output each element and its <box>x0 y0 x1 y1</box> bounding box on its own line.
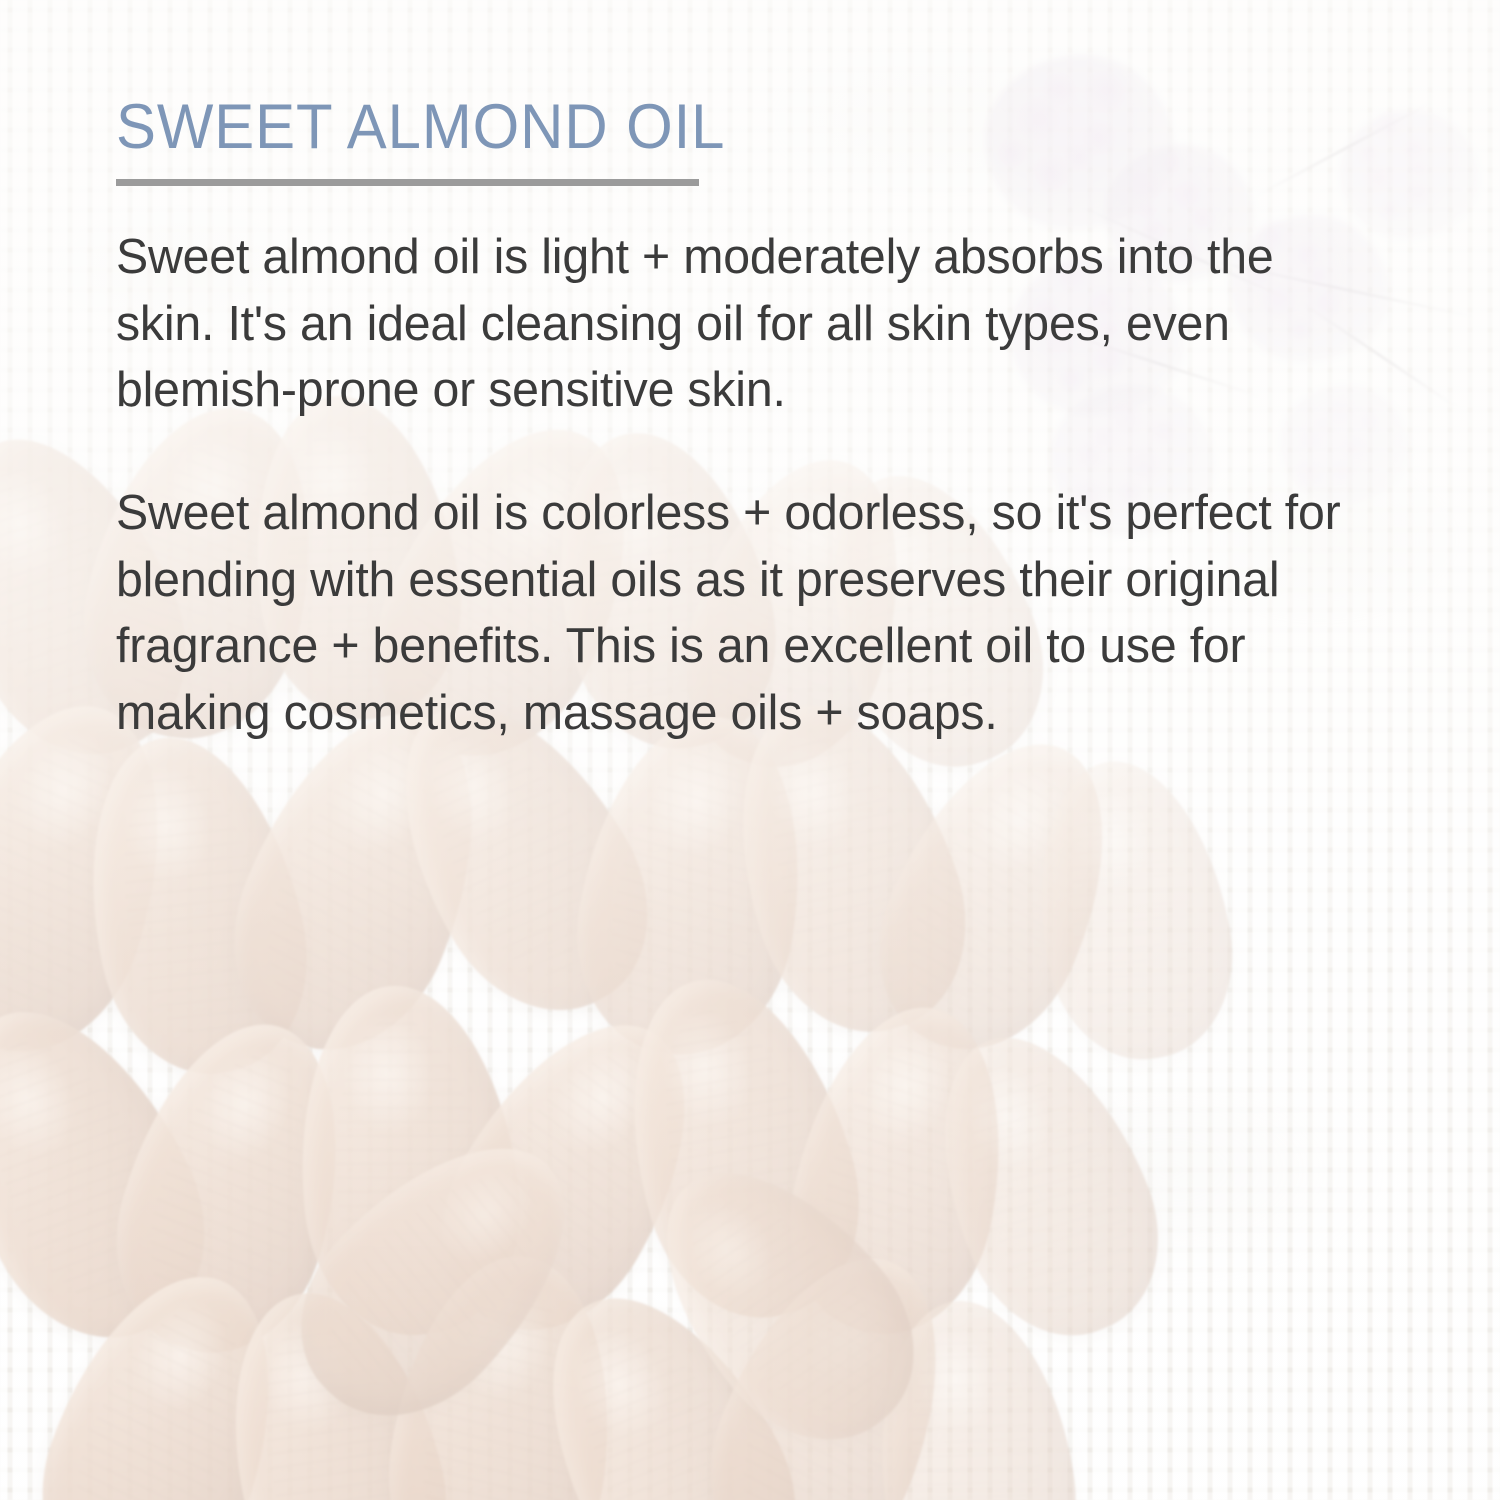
almond-nut <box>557 699 828 1071</box>
almond-nut <box>1015 746 1249 1074</box>
almond-nut <box>614 1125 956 1481</box>
body-paragraph-2: Sweet almond oil is colorless + odorless… <box>116 480 1359 747</box>
flower-petal <box>1400 134 1430 164</box>
product-info-card: SWEET ALMOND OIL Sweet almond oil is lig… <box>0 0 1500 1500</box>
body-paragraph-1: Sweet almond oil is light + moderately a… <box>116 224 1347 424</box>
flower-petal <box>1402 177 1434 209</box>
almond-nut <box>899 1006 1191 1365</box>
almond-nut <box>199 1271 472 1500</box>
almond-nut <box>675 1225 984 1500</box>
almond-nut <box>282 975 532 1346</box>
almond-nut <box>498 1256 836 1500</box>
title-divider <box>116 179 699 186</box>
almond-nut <box>59 717 330 1092</box>
almond-nut <box>88 998 377 1377</box>
almond-nut <box>401 982 739 1368</box>
almond-nut <box>768 988 1032 1352</box>
almond-nut <box>0 971 245 1373</box>
almond-nut <box>859 1288 1090 1500</box>
almond-nut <box>372 1242 633 1500</box>
almond-nut <box>592 953 889 1343</box>
almond-nut <box>9 1245 316 1500</box>
almond-nut <box>843 709 1151 1081</box>
content-block: SWEET ALMOND OIL Sweet almond oil is lig… <box>116 96 1384 746</box>
page-title: SWEET ALMOND OIL <box>116 96 1321 159</box>
flower-petal <box>1407 158 1429 180</box>
almond-nut <box>258 1096 617 1458</box>
